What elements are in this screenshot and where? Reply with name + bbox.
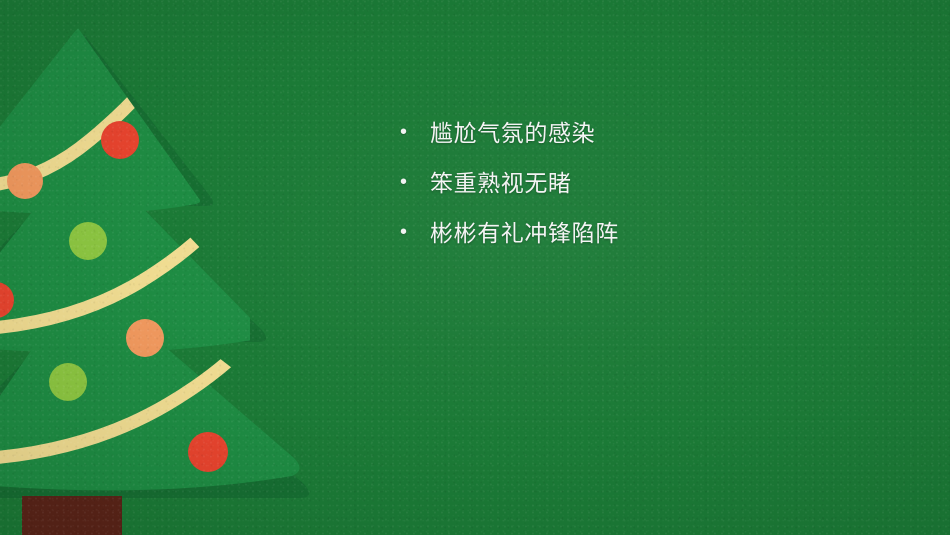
ornament-orange-upper: [7, 163, 43, 199]
ornament-red-bottom: [188, 432, 228, 472]
ornament-orange-middle: [126, 319, 164, 357]
bullet-marker-icon: •: [400, 168, 430, 197]
bullet-item: • 笨重熟视无睹: [400, 168, 870, 198]
bullet-text: 彬彬有礼冲锋陷阵: [430, 218, 870, 248]
ornament-red-top: [101, 121, 139, 159]
bullet-marker-icon: •: [400, 118, 430, 147]
slide-body-text: • 尴尬气氛的感染 • 笨重熟视无睹 • 彬彬有礼冲锋陷阵: [400, 118, 870, 248]
bullet-marker-icon: •: [400, 218, 430, 247]
bullet-item: • 彬彬有礼冲锋陷阵: [400, 218, 870, 248]
christmas-tree-illustration: [0, 0, 330, 535]
presentation-slide: • 尴尬气氛的感染 • 笨重熟视无睹 • 彬彬有礼冲锋陷阵: [0, 0, 950, 535]
ornament-green-upper: [69, 222, 107, 260]
bullet-text: 尴尬气氛的感染: [430, 118, 870, 148]
ornament-green-lower: [49, 363, 87, 401]
tree-trunk: [22, 496, 122, 535]
bullet-text: 笨重熟视无睹: [430, 168, 870, 198]
bullet-item: • 尴尬气氛的感染: [400, 118, 870, 148]
